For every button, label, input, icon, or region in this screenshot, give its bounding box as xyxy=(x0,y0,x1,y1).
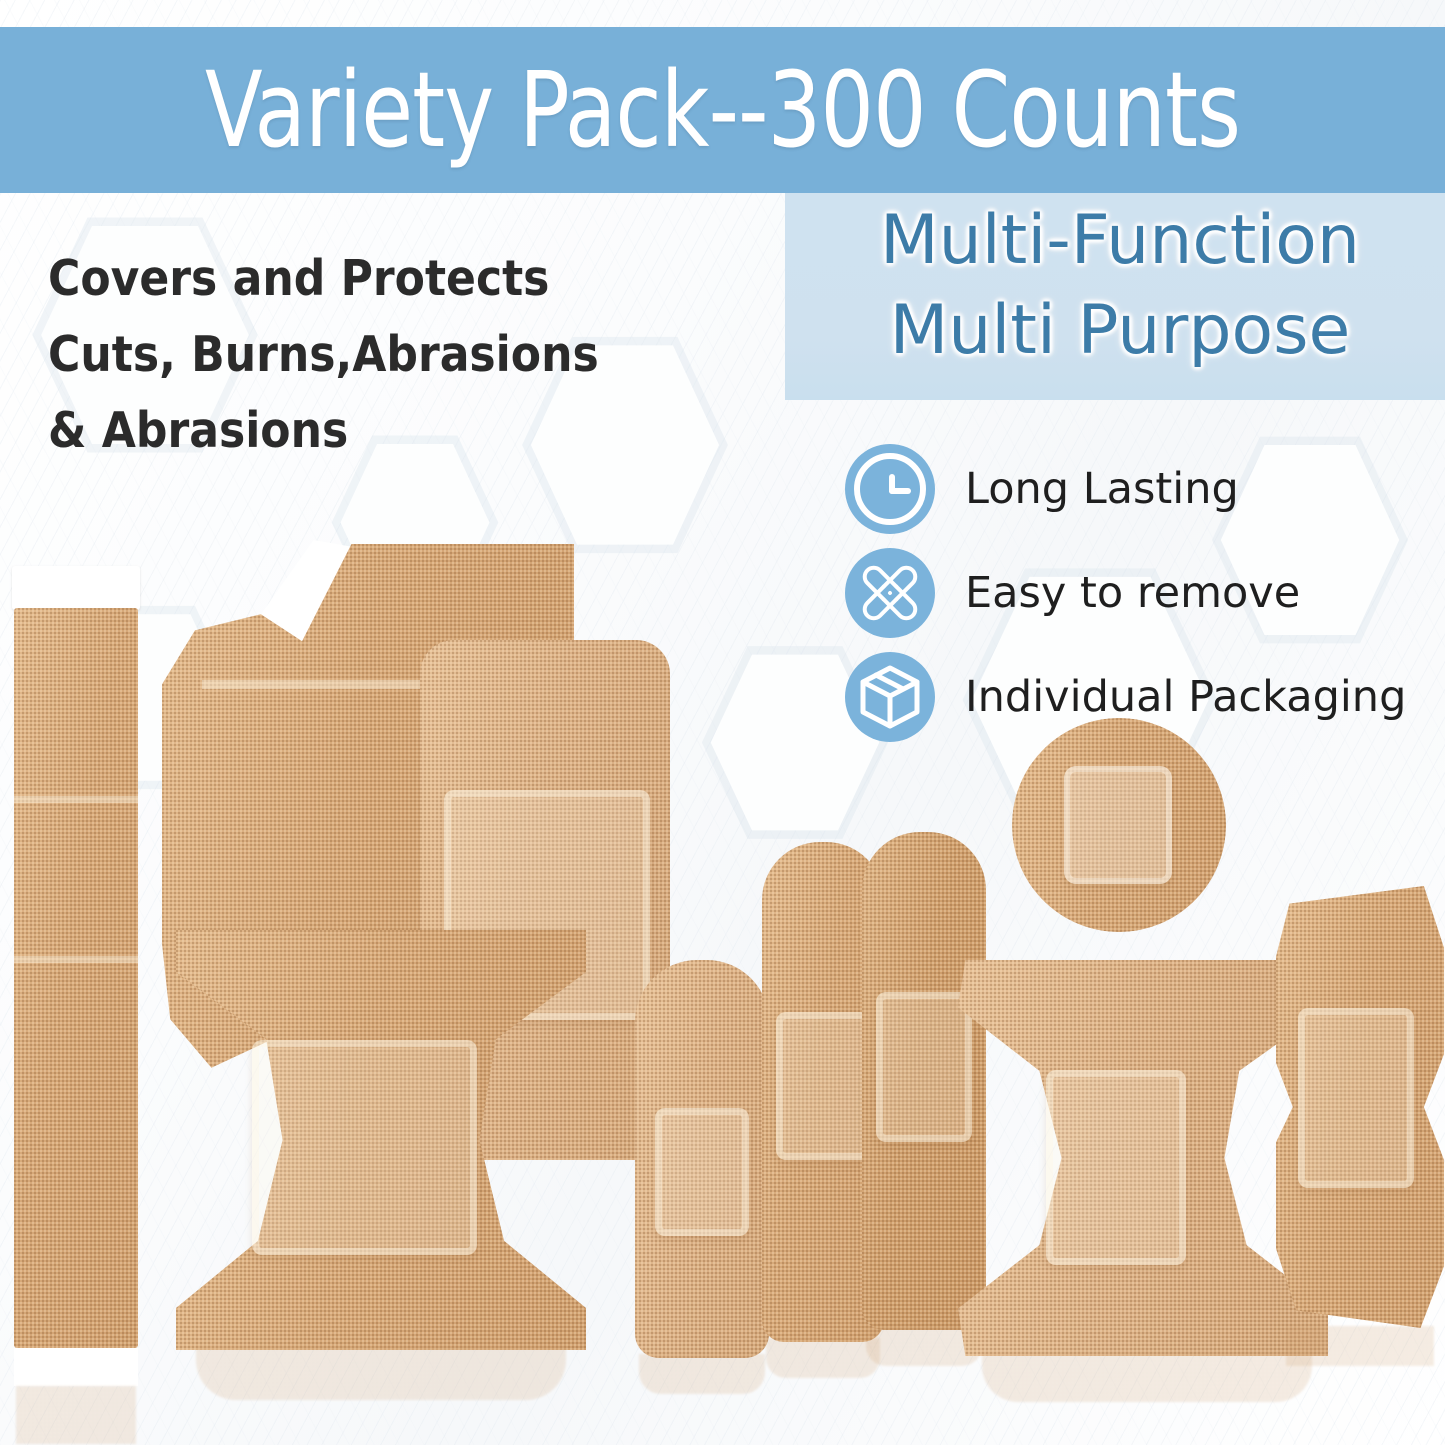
feature-label-easy-to-remove: Easy to remove xyxy=(965,568,1300,618)
bandage-fabric xyxy=(14,608,138,1348)
copy-line-3: & Abrasions xyxy=(48,400,348,462)
infographic-canvas: Variety Pack--300 Counts Covers and Prot… xyxy=(0,0,1445,1445)
strip-medium-pad xyxy=(776,1012,870,1160)
copy-line-3-text: & Abrasions xyxy=(48,402,348,459)
strip-small-reflection xyxy=(639,1354,765,1394)
left-copy-block: Covers and Protects Cuts, Burns,Abrasion… xyxy=(48,248,688,476)
header-banner: Variety Pack--300 Counts xyxy=(0,27,1445,193)
strip-bandage-vertical xyxy=(12,566,140,1386)
feature-item-long-lasting: Long Lasting xyxy=(845,437,1406,541)
butterfly-right-pad xyxy=(1046,1070,1186,1265)
bandage-wrapper-paper xyxy=(12,566,140,610)
strip-bandage-small xyxy=(635,960,775,1380)
clock-icon-minute-hand xyxy=(889,488,911,494)
feature-item-easy-to-remove: Easy to remove xyxy=(845,541,1406,645)
fingertip-bandage-right xyxy=(1276,886,1445,1356)
right-heading-line-2: Multi Purpose xyxy=(795,286,1445,376)
bandage-pad-seam-top xyxy=(14,796,138,803)
package-box-icon xyxy=(845,652,935,742)
bandage-wrapper-paper-bottom xyxy=(14,1348,138,1386)
spot-bandage-closeup-inset xyxy=(1012,718,1226,932)
crossed-bandages-icon xyxy=(845,548,935,638)
feature-label-individual-packaging: Individual Packaging xyxy=(965,672,1406,722)
butterfly-left-reflection xyxy=(196,1346,566,1400)
page-title: Variety Pack--300 Counts xyxy=(72,35,1373,185)
copy-line-2: Cuts, Burns,Abrasions xyxy=(48,324,599,386)
package-box-icon-glyph xyxy=(855,662,925,732)
clock-icon xyxy=(845,444,935,534)
butterfly-bandage-left xyxy=(176,930,606,1370)
copy-line-2-text: Cuts, Burns,Abrasions xyxy=(48,326,599,383)
bandage-pad-seam-bottom xyxy=(14,956,138,963)
copy-line-1-text: Covers and Protects xyxy=(48,250,549,307)
fingertip-reflection xyxy=(1286,1326,1434,1366)
strip-small-pad xyxy=(655,1108,749,1236)
right-heading-line-1: Multi-Function xyxy=(795,196,1445,286)
butterfly-right-reflection xyxy=(982,1352,1312,1402)
copy-line-1: Covers and Protects xyxy=(48,248,549,310)
butterfly-left-pad xyxy=(252,1040,477,1255)
right-heading-block: Multi-Function Multi Purpose xyxy=(795,196,1445,376)
fingertip-pad xyxy=(1298,1008,1414,1188)
feature-label-long-lasting: Long Lasting xyxy=(965,464,1239,514)
closeup-pad xyxy=(1064,766,1172,884)
feature-list: Long Lasting Easy to remove xyxy=(845,437,1406,749)
bandage-reflection xyxy=(16,1386,136,1444)
